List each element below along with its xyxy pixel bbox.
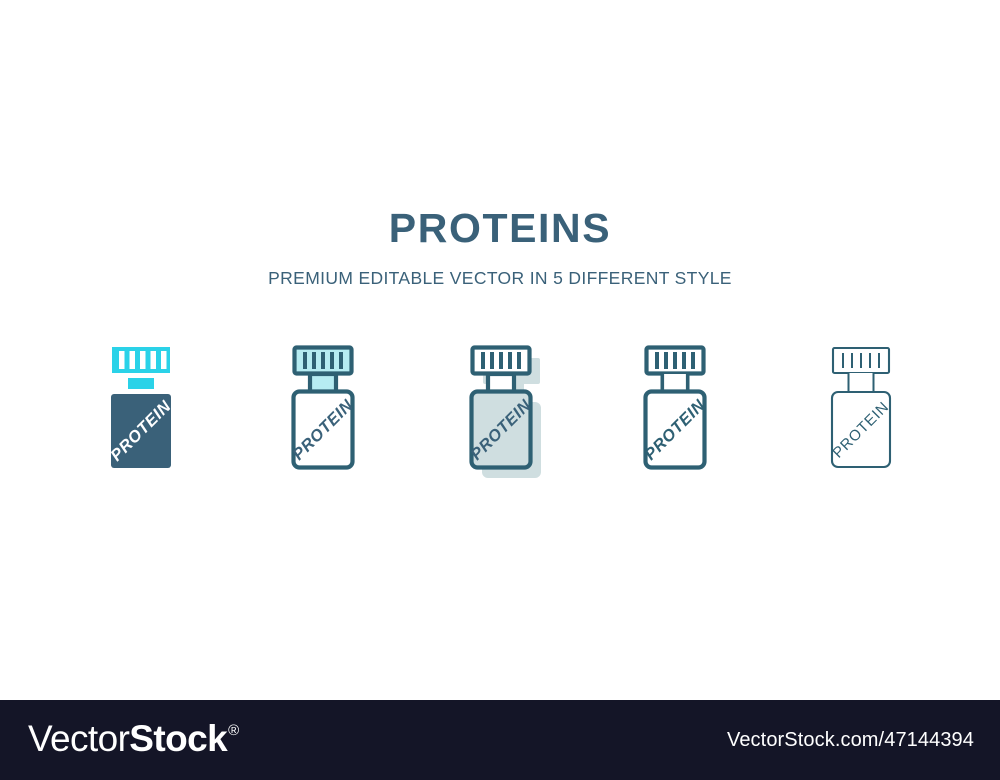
bottle-neck [128, 378, 154, 389]
protein-bottle-icon: PROTEIN [426, 338, 586, 493]
footer-url[interactable]: VectorStock.com/47144394 [727, 729, 974, 752]
page-title: PROTEINS [0, 205, 1000, 251]
footer-bar: VectorStock® VectorStock.com/47144394 [0, 700, 1000, 780]
protein-bottle-icon: PROTEIN [66, 338, 216, 488]
bottle-cap [295, 348, 352, 374]
protein-bottle-icon: PROTEIN [786, 338, 936, 488]
bottle-cap [647, 348, 704, 374]
icon-variant-outline-thin[interactable]: PROTEIN [786, 338, 936, 488]
icon-variant-row: PROTEIN PROTEIN [0, 338, 1000, 488]
logo-text-vector: Vector [28, 718, 129, 760]
bottle-cap [833, 348, 889, 373]
bottle-cap [112, 347, 170, 373]
protein-bottle-icon: PROTEIN [600, 338, 750, 488]
icon-variant-filled[interactable]: PROTEIN [66, 338, 216, 488]
icon-variant-shadow[interactable]: PROTEIN [426, 338, 576, 488]
bottle-cap [473, 348, 530, 374]
logo-text-stock: Stock [129, 718, 227, 760]
bottle-neck [848, 373, 875, 393]
heading-block: PROTEINS PREMIUM EDITABLE VECTOR IN 5 DI… [0, 205, 1000, 288]
bottle-neck [488, 374, 514, 392]
registered-trademark-icon: ® [228, 722, 239, 739]
page-subtitle: PREMIUM EDITABLE VECTOR IN 5 DIFFERENT S… [0, 268, 1000, 288]
protein-bottle-icon: PROTEIN [248, 338, 398, 488]
vectorstock-logo[interactable]: VectorStock® [28, 718, 238, 762]
icon-variant-two-color[interactable]: PROTEIN [248, 338, 398, 488]
icon-variant-outline-bold[interactable]: PROTEIN [600, 338, 750, 488]
canvas: PROTEINS PREMIUM EDITABLE VECTOR IN 5 DI… [0, 0, 1000, 780]
bottle-neck [310, 374, 336, 392]
